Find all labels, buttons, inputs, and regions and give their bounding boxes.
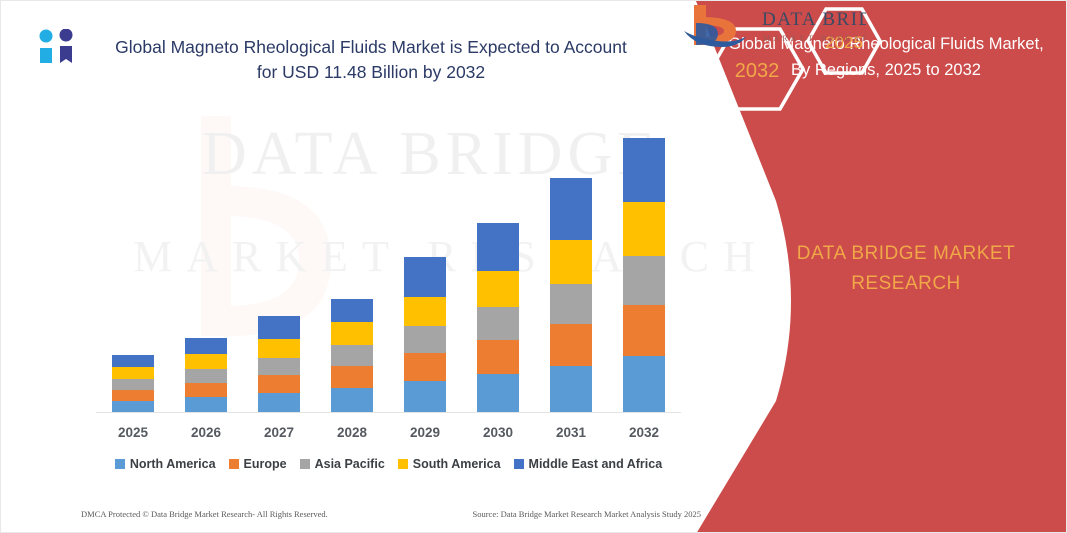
databridge-corner-logo-icon: DATA BRIDGE MARKET RESEARCH bbox=[666, 1, 866, 53]
bar-column-2026 bbox=[185, 338, 227, 413]
footer-source-text: Source: Data Bridge Market Research Mark… bbox=[472, 509, 701, 519]
page-title: Global Magneto Rheological Fluids Market… bbox=[111, 35, 631, 85]
legend-item[interactable]: North America bbox=[115, 457, 216, 471]
x-axis-label-2030: 2030 bbox=[468, 425, 528, 440]
bar-segment bbox=[331, 388, 373, 413]
footer-dmca-text: DMCA Protected © Data Bridge Market Rese… bbox=[81, 509, 328, 519]
bar-segment bbox=[258, 316, 300, 339]
bar-segment bbox=[477, 223, 519, 271]
bar-segment bbox=[623, 305, 665, 356]
chart-infographic: DATA BRIDGE MARKET RESEARCH Global Magne… bbox=[0, 0, 1067, 533]
bar-column-2027 bbox=[258, 316, 300, 413]
bar-segment bbox=[404, 381, 446, 413]
x-axis-label-2032: 2032 bbox=[614, 425, 674, 440]
x-axis-label-2027: 2027 bbox=[249, 425, 309, 440]
x-axis-label-2028: 2028 bbox=[322, 425, 382, 440]
legend-label: North America bbox=[130, 457, 216, 471]
bar-segment bbox=[623, 138, 665, 202]
bar-segment bbox=[185, 397, 227, 413]
chart-legend: North AmericaEuropeAsia PacificSouth Ame… bbox=[96, 457, 681, 471]
bar-column-2029 bbox=[404, 257, 446, 413]
bar-segment bbox=[477, 271, 519, 307]
bar-segment bbox=[477, 307, 519, 340]
hexagon-2032-label: 2032 bbox=[735, 60, 780, 82]
bar-segment bbox=[477, 374, 519, 413]
right-panel: Global Magneto Rheological Fluids Market… bbox=[666, 1, 1066, 533]
bar-segment bbox=[550, 240, 592, 284]
bar-segment bbox=[185, 354, 227, 369]
x-axis-label-2026: 2026 bbox=[176, 425, 236, 440]
bar-segment bbox=[623, 202, 665, 256]
panel-brand-line1: DATA BRIDGE MARKET bbox=[766, 239, 1046, 269]
legend-label: Middle East and Africa bbox=[529, 457, 663, 471]
legend-item[interactable]: Middle East and Africa bbox=[514, 457, 663, 471]
panel-brand-line2: RESEARCH bbox=[766, 269, 1046, 299]
bar-segment bbox=[404, 326, 446, 353]
legend-label: Europe bbox=[244, 457, 287, 471]
corner-logo-subtitle: MARKET RESEARCH bbox=[763, 34, 866, 43]
x-axis-label-2025: 2025 bbox=[103, 425, 163, 440]
corner-logo-title: DATA BRIDGE bbox=[762, 9, 866, 30]
legend-swatch-icon bbox=[229, 459, 239, 469]
bar-segment bbox=[623, 356, 665, 413]
bar-column-2028 bbox=[331, 299, 373, 413]
x-axis-label-2029: 2029 bbox=[395, 425, 455, 440]
footer: DMCA Protected © Data Bridge Market Rese… bbox=[81, 509, 701, 519]
panel-brand-text: DATA BRIDGE MARKET RESEARCH bbox=[766, 239, 1046, 299]
bar-segment bbox=[331, 366, 373, 388]
legend-item[interactable]: Europe bbox=[229, 457, 287, 471]
bar-segment bbox=[550, 324, 592, 366]
legend-label: South America bbox=[413, 457, 501, 471]
bar-column-2025 bbox=[112, 355, 154, 413]
bar-segment bbox=[550, 178, 592, 240]
bar-segment bbox=[404, 353, 446, 381]
bar-segment bbox=[404, 297, 446, 326]
legend-item[interactable]: South America bbox=[398, 457, 501, 471]
bar-segment bbox=[185, 338, 227, 354]
bar-segment bbox=[331, 322, 373, 345]
chart-baseline bbox=[96, 412, 681, 413]
bar-segment bbox=[331, 299, 373, 322]
bar-segment bbox=[477, 340, 519, 374]
bar-segment bbox=[112, 355, 154, 367]
bar-segment bbox=[331, 345, 373, 366]
legend-swatch-icon bbox=[115, 459, 125, 469]
legend-swatch-icon bbox=[398, 459, 408, 469]
bar-segment bbox=[550, 284, 592, 324]
bar-segment bbox=[112, 390, 154, 401]
bar-segment bbox=[623, 256, 665, 305]
bar-segment bbox=[185, 383, 227, 397]
bar-segment bbox=[550, 366, 592, 413]
bar-column-2031 bbox=[550, 178, 592, 413]
legend-label: Asia Pacific bbox=[315, 457, 385, 471]
bar-segment bbox=[112, 379, 154, 390]
legend-item[interactable]: Asia Pacific bbox=[300, 457, 385, 471]
legend-swatch-icon bbox=[300, 459, 310, 469]
chart-plot-area bbox=[96, 111, 681, 413]
bar-segment bbox=[258, 358, 300, 375]
bar-segment bbox=[258, 393, 300, 413]
bar-segment bbox=[258, 339, 300, 358]
bar-segment bbox=[404, 257, 446, 297]
bar-column-2032 bbox=[623, 138, 665, 413]
bar-segment bbox=[258, 375, 300, 393]
databridge-logo-icon bbox=[37, 29, 77, 65]
bar-segment bbox=[112, 367, 154, 379]
bar-column-2030 bbox=[477, 223, 519, 413]
bar-segment bbox=[185, 369, 227, 383]
x-axis-label-2031: 2031 bbox=[541, 425, 601, 440]
chart-x-axis: 20252026202720282029203020312032 bbox=[96, 425, 681, 445]
legend-swatch-icon bbox=[514, 459, 524, 469]
